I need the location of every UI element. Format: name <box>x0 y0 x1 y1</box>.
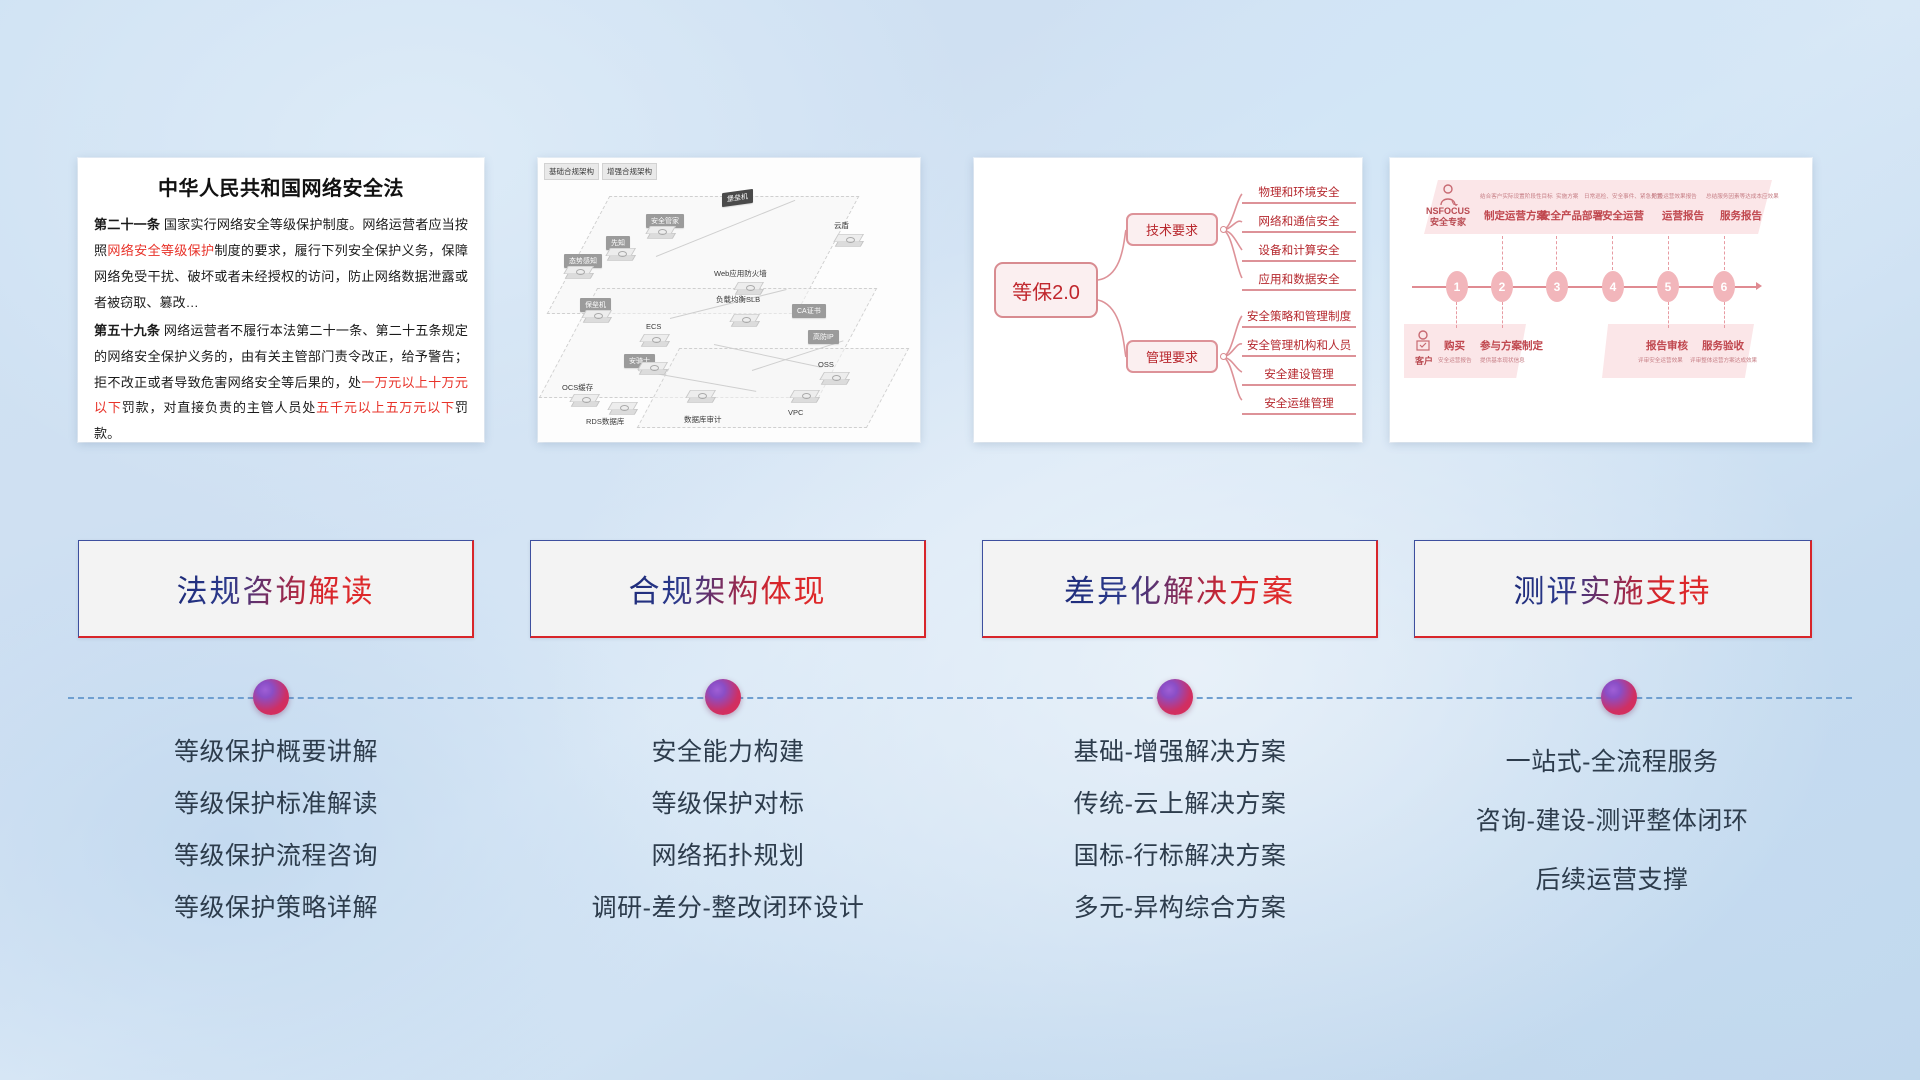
list-item: 等级保护标准解读 <box>78 792 474 817</box>
section-title-2: 合规架构体现 <box>629 566 827 611</box>
slide-canvas: 中华人民共和国网络安全法 第二十一条 国家实行网络安全等级保护制度。网络运营者应… <box>0 0 1920 1080</box>
list-item: 基础-增强解决方案 <box>982 740 1378 765</box>
section-header-box-2[interactable]: 合规架构体现 <box>530 540 926 638</box>
list-item: 等级保护策略详解 <box>78 896 474 921</box>
list-item: 一站式-全流程服务 <box>1414 750 1810 775</box>
timeline-actor-expert: NSFOCUS 安全专家 <box>1420 206 1476 229</box>
timeline-top-title-5: 运营报告 <box>1662 208 1704 223</box>
network-diagram: 基础合规架构 增强合规架构 堡垒机 安全管家 先知 态势感 <box>538 158 920 442</box>
timeline-bottom-sub-5: 评审安全运营效果 <box>1638 356 1683 364</box>
detail-column-4: 一站式-全流程服务 咨询-建设-测评整体闭环 后续运营支撑 <box>1414 740 1810 927</box>
list-item: 等级保护概要讲解 <box>78 740 474 765</box>
chip-ca-cert: CA证书 <box>792 304 826 318</box>
rail-bead-4[interactable] <box>1601 679 1637 715</box>
rail-bead-1[interactable] <box>253 679 289 715</box>
timeline-bottom-sub-6: 评审整体运营方案达成效果 <box>1690 356 1757 364</box>
law-body: 中华人民共和国网络安全法 第二十一条 国家实行网络安全等级保护制度。网络运营者应… <box>78 158 484 442</box>
mindmap-leaf-ops: 安全运维管理 <box>1242 395 1356 415</box>
mindmap-card: 等保2.0 技术要求 物理和环境安全 网络和通信安全 设备和计算安全 应用和数据… <box>974 158 1362 442</box>
diagram-tab-bar: 基础合规架构 增强合规架构 <box>544 163 657 180</box>
cube-ecs <box>644 334 670 354</box>
cube-anqishi <box>642 362 668 382</box>
timeline-node-6[interactable]: 6 <box>1713 271 1735 302</box>
law-paragraph-59: 第五十九条 网络运营者不履行本法第二十一条、第二十五条规定的网络安全保护义务的，… <box>94 318 468 442</box>
label-ocs-cache: OCS缓存 <box>562 382 593 393</box>
cube-bastion <box>586 310 612 330</box>
detail-column-1: 等级保护概要讲解 等级保护标准解读 等级保护流程咨询 等级保护策略详解 <box>78 740 474 948</box>
detail-column-2: 安全能力构建 等级保护对标 网络拓扑规划 调研-差分-整改闭环设计 <box>530 740 926 948</box>
timeline-top-title-4: 安全运营 <box>1602 208 1644 223</box>
law-paragraph-21: 第二十一条 国家实行网络安全等级保护制度。网络运营者应当按照网络安全等级保护制度… <box>94 212 468 316</box>
cube-slb <box>734 314 760 334</box>
section-title-1: 法规咨询解读 <box>177 566 375 611</box>
mindmap-leaf-network: 网络和通信安全 <box>1242 213 1356 233</box>
cube-vpc <box>794 390 820 410</box>
timeline-top-band <box>1424 180 1772 234</box>
timeline-top-sub-4: 日常巡检、安全事件、紧急处置 <box>1584 192 1662 200</box>
section-header-row: 法规咨询解读 合规架构体现 差异化解决方案 测评实施支持 <box>0 540 1920 650</box>
rail-bead-2[interactable] <box>705 679 741 715</box>
rail-bead-3[interactable] <box>1157 679 1193 715</box>
law-article-label-59: 第五十九条 <box>94 323 160 338</box>
section-title-3: 差异化解决方案 <box>1064 566 1295 611</box>
law-article-label-21: 第二十一条 <box>94 217 160 232</box>
timeline-node-3[interactable]: 3 <box>1546 271 1568 302</box>
timeline-stem-2 <box>1502 236 1503 270</box>
timeline-top-sub-3: 实施方案 <box>1556 192 1578 200</box>
mindmap-leaf-policy: 安全策略和管理制度 <box>1242 308 1356 328</box>
law-text-card: 中华人民共和国网络安全法 第二十一条 国家实行网络安全等级保护制度。网络运营者应… <box>78 158 484 442</box>
timeline-bottom-sub-1: 安全运营报告 <box>1438 356 1472 364</box>
timeline-bottom-title-6: 服务验收 <box>1702 338 1744 353</box>
cube-cloud-shield <box>838 234 864 254</box>
law-run-1-highlight: 网络安全等级保护 <box>107 243 214 258</box>
mindmap-leaf-device: 设备和计算安全 <box>1242 242 1356 262</box>
mindmap: 等保2.0 技术要求 物理和环境安全 网络和通信安全 设备和计算安全 应用和数据… <box>974 158 1362 442</box>
timeline-stem-6 <box>1724 236 1725 270</box>
expert-line-1: NSFOCUS <box>1426 206 1470 216</box>
image-card-row: 中华人民共和国网络安全法 第二十一条 国家实行网络安全等级保护制度。网络运营者应… <box>0 0 1920 450</box>
list-item: 安全能力构建 <box>530 740 926 765</box>
timeline-actor-customer: 客户 <box>1412 354 1436 367</box>
label-db-audit: 数据库审计 <box>684 414 722 425</box>
timeline-node-4[interactable]: 4 <box>1602 271 1624 302</box>
timeline-bottom-title-2: 参与方案制定 <box>1480 338 1543 353</box>
cube-xianzhi <box>610 248 636 268</box>
plane-lower <box>637 348 910 428</box>
timeline-stem-b1 <box>1456 302 1457 328</box>
law59-run-3-highlight: 五千元以上五万元以下 <box>316 400 455 415</box>
list-item: 网络拓扑规划 <box>530 844 926 869</box>
list-item: 等级保护流程咨询 <box>78 844 474 869</box>
mindmap-dot-management[interactable] <box>1220 353 1227 360</box>
chip-anti-ddos: 高防IP <box>808 330 839 344</box>
law59-run-2: 罚款，对直接负责的主管人员处 <box>122 400 316 415</box>
detail-column-3: 基础-增强解决方案 传统-云上解决方案 国标-行标解决方案 多元-异构综合方案 <box>982 740 1378 948</box>
timeline-stem-4 <box>1612 236 1613 270</box>
list-item: 多元-异构综合方案 <box>982 896 1378 921</box>
network-architecture-card: 基础合规架构 增强合规架构 堡垒机 安全管家 先知 态势感 <box>538 158 920 442</box>
mindmap-leaf-physical: 物理和环境安全 <box>1242 184 1356 204</box>
timeline-stem-b5 <box>1668 302 1669 328</box>
timeline-top-title-3: 安全产品部署 <box>1540 208 1603 223</box>
mindmap-node-technical: 技术要求 <box>1126 213 1218 246</box>
list-item: 调研-差分-整改闭环设计 <box>530 896 926 921</box>
timeline-stem-b6 <box>1724 302 1725 328</box>
list-item: 传统-云上解决方案 <box>982 792 1378 817</box>
mindmap-dot-technical[interactable] <box>1220 226 1227 233</box>
cube-situational-awareness <box>568 266 594 286</box>
tab-enhanced-compliance[interactable]: 增强合规架构 <box>602 163 657 180</box>
timeline-stem-3 <box>1556 236 1557 270</box>
expert-person-icon <box>1438 184 1458 206</box>
timeline-arrow-icon <box>1756 282 1762 290</box>
law-title: 中华人民共和国网络安全法 <box>94 172 468 201</box>
list-item: 后续运营支撑 <box>1414 868 1810 893</box>
timeline-top-sub-2: 结合客户实际设置阶段性目标 <box>1480 192 1553 200</box>
cube-db-audit <box>690 390 716 410</box>
mindmap-leaf-org: 安全管理机构和人员 <box>1242 337 1356 357</box>
section-header-box-1[interactable]: 法规咨询解读 <box>78 540 474 638</box>
label-waf: Web应用防火墙 <box>714 268 767 279</box>
cube-ocs <box>574 394 600 414</box>
timeline-top-title-2: 制定运营方案 <box>1484 208 1547 223</box>
section-header-box-3[interactable]: 差异化解决方案 <box>982 540 1378 638</box>
list-item: 国标-行标解决方案 <box>982 844 1378 869</box>
timeline-node-5[interactable]: 5 <box>1657 271 1679 302</box>
timeline-node-1[interactable]: 1 <box>1446 271 1468 302</box>
cube-security-butler <box>650 226 676 246</box>
cube-oss <box>824 372 850 392</box>
timeline-bottom-title-5: 报告审核 <box>1646 338 1688 353</box>
cube-rds <box>612 402 638 422</box>
tab-basic-compliance[interactable]: 基础合规架构 <box>544 163 599 180</box>
timeline-node-2[interactable]: 2 <box>1491 271 1513 302</box>
label-slb: 负载均衡SLB <box>716 294 760 305</box>
timeline-top-title-6: 服务报告 <box>1720 208 1762 223</box>
mindmap-leaf-application: 应用和数据安全 <box>1242 271 1356 291</box>
timeline-rail <box>68 697 1852 699</box>
mindmap-node-management: 管理要求 <box>1126 340 1218 373</box>
list-item: 咨询-建设-测评整体闭环 <box>1414 809 1810 834</box>
timeline-stem-b2 <box>1502 302 1503 328</box>
mindmap-leaf-construction: 安全建设管理 <box>1242 366 1356 386</box>
section-header-box-4[interactable]: 测评实施支持 <box>1414 540 1812 638</box>
label-ecs: ECS <box>646 322 661 331</box>
timeline-top-sub-5: 阶段运营效果报告 <box>1652 192 1697 200</box>
timeline-top-sub-6: 总结服务因素等达成本应效果 <box>1706 192 1779 200</box>
timeline-bottom-sub-2: 提供基本现状信息 <box>1480 356 1525 364</box>
service-timeline: NSFOCUS 安全专家 结合客户实际设置阶段性目标 制定运营方案 实施方案 安… <box>1390 158 1812 442</box>
timeline-stem-5 <box>1668 236 1669 270</box>
mindmap-root: 等保2.0 <box>994 262 1098 318</box>
list-item: 等级保护对标 <box>530 792 926 817</box>
service-timeline-card: NSFOCUS 安全专家 结合客户实际设置阶段性目标 制定运营方案 实施方案 安… <box>1390 158 1812 442</box>
label-oss: OSS <box>818 360 834 369</box>
expert-line-2: 安全专家 <box>1430 217 1466 227</box>
label-cloud-shield: 云盾 <box>834 220 849 231</box>
timeline-bottom-title-1: 购买 <box>1444 338 1465 353</box>
detail-columns: 等级保护概要讲解 等级保护标准解读 等级保护流程咨询 等级保护策略详解 安全能力… <box>0 740 1920 990</box>
section-title-4: 测评实施支持 <box>1514 566 1712 611</box>
customer-person-icon <box>1414 330 1432 352</box>
